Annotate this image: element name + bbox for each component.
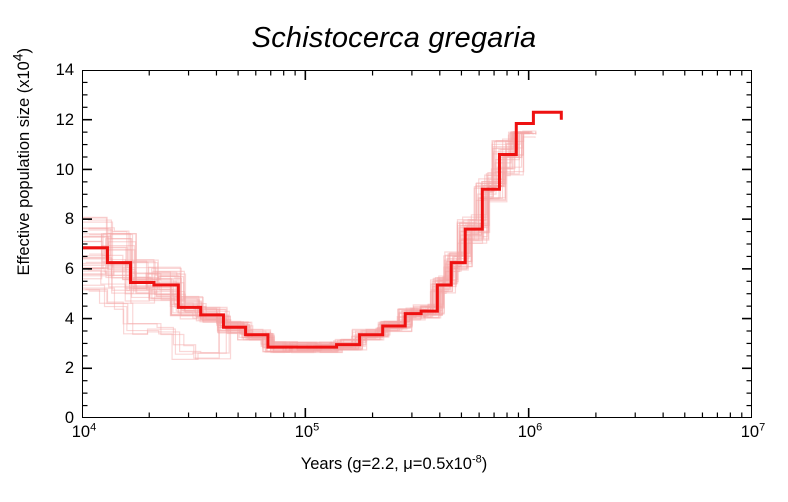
x-axis-label-exponent: -8 <box>472 454 482 466</box>
plot-area <box>82 70 752 418</box>
x-axis-label-tail: ) <box>482 455 488 473</box>
y-axis-label-exponent: 4 <box>10 54 25 62</box>
plot-frame-border <box>82 70 752 418</box>
chart-figure: Schistocerca gregaria 14 12 10 8 6 4 2 0… <box>0 0 788 502</box>
y-axis-label-text: Effective population size (x10 <box>15 61 33 275</box>
x-tick-1e7-mantissa: 10 <box>741 423 759 441</box>
x-tick-1e4-mantissa: 10 <box>72 423 90 441</box>
y-tick-2: 2 <box>6 360 74 377</box>
y-axis-label-host: Effective population size (x104) <box>0 0 1 1</box>
x-tick-1e7: 107 <box>725 424 781 441</box>
x-tick-1e6: 106 <box>502 424 558 441</box>
x-axis-label: Years (g=2.2, μ=0.5x10-8) <box>0 455 788 474</box>
x-tick-1e7-exponent: 7 <box>759 422 765 434</box>
x-tick-1e5-exponent: 5 <box>313 422 319 434</box>
x-tick-1e4-exponent: 4 <box>90 422 96 434</box>
x-tick-1e6-mantissa: 10 <box>518 423 536 441</box>
y-axis-label: Effective population size (x104) <box>10 12 34 312</box>
x-tick-1e6-exponent: 6 <box>536 422 542 434</box>
x-tick-1e5: 105 <box>279 424 335 441</box>
x-tick-1e4: 104 <box>56 424 112 441</box>
y-axis-label-tail: ) <box>15 48 33 54</box>
x-axis-label-text: Years (g=2.2, μ=0.5x10 <box>301 455 472 473</box>
x-tick-1e5-mantissa: 10 <box>295 423 313 441</box>
y-tick-4: 4 <box>6 311 74 328</box>
